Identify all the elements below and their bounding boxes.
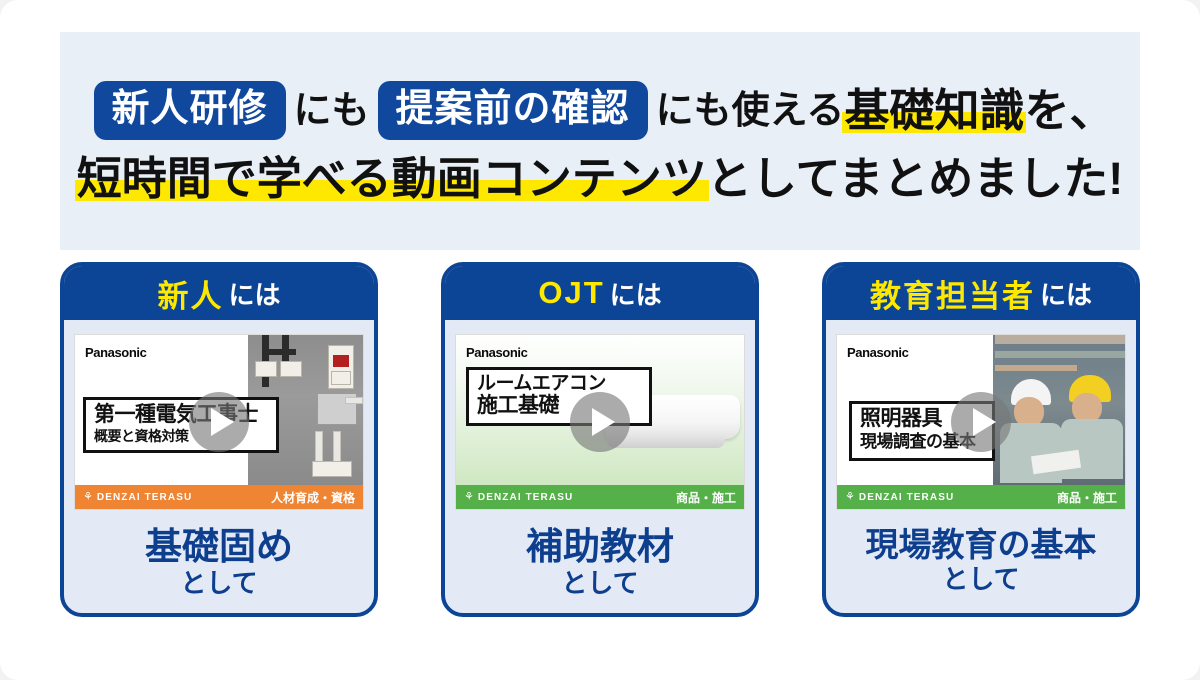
badge-pre-proposal-check: 提案前の確認	[378, 81, 648, 140]
card-caption-new-employee: 基礎固め として	[78, 528, 360, 597]
play-triangle	[592, 408, 615, 436]
card-row: 新人 には	[60, 262, 1140, 617]
denzai-terasu-brand: DENZAI TERASU	[478, 492, 573, 503]
thumbnail-footer-brand-group: ⚘ DENZAI TERASU	[845, 492, 954, 503]
thumbnail-category: 商品・施工	[676, 489, 736, 506]
card-caption-training-manager: 現場教育の基本 として	[840, 528, 1122, 593]
caption-main: 補助教材	[459, 528, 741, 567]
card-header-key: OJT	[538, 275, 604, 311]
play-triangle	[211, 408, 234, 436]
card-header-suffix: には	[1037, 275, 1092, 312]
promo-canvas: 新人研修 にも 提案前の確認 にも使える 基礎知識 を、 短時間で学べる動画コン…	[0, 0, 1200, 680]
card-header-key: 教育担当者	[870, 271, 1035, 316]
video-thumbnail-electrician[interactable]: Panasonic 第一種電気工事士 概要と資格対策 ⚘ DENZAI TERA…	[74, 334, 364, 510]
caption-main: 基礎固め	[78, 528, 360, 567]
card-ojt[interactable]: OJT には Panasonic ルームエアコン 施工基	[441, 262, 759, 617]
video-thumbnail-room-aircon[interactable]: Panasonic ルームエアコン 施工基礎 ⚘ DENZAI TERASU 商…	[455, 334, 745, 510]
play-icon[interactable]	[951, 392, 1011, 452]
denzai-terasu-mark-icon: ⚘	[464, 492, 474, 503]
headline-tail-2: としてまとめました!	[707, 156, 1123, 201]
denzai-terasu-brand: DENZAI TERASU	[97, 492, 192, 503]
headline-tail-1: を、	[1024, 88, 1114, 133]
thumbnail-footer: ⚘ DENZAI TERASU 人材育成・資格	[75, 485, 363, 509]
panasonic-logo: Panasonic	[85, 345, 146, 360]
headline-highlight-basics: 基礎知識	[844, 88, 1024, 133]
card-caption-ojt: 補助教材 として	[459, 528, 741, 597]
play-icon[interactable]	[189, 392, 249, 452]
card-header-key: 新人	[157, 271, 223, 316]
thumbnail-title-main: ルームエアコン	[477, 374, 641, 394]
card-header-new-employee: 新人 には	[64, 266, 374, 320]
play-triangle	[973, 408, 996, 436]
headline-connector-2: にも使える	[656, 92, 845, 130]
panasonic-logo: Panasonic	[847, 345, 908, 360]
card-training-manager[interactable]: 教育担当者 には	[822, 262, 1140, 617]
denzai-terasu-brand: DENZAI TERASU	[859, 492, 954, 503]
card-header-ojt: OJT には	[445, 266, 755, 320]
denzai-terasu-mark-icon: ⚘	[845, 492, 855, 503]
card-body-ojt: Panasonic ルームエアコン 施工基礎 ⚘ DENZAI TERASU 商…	[445, 320, 755, 613]
field-workers-photo	[993, 335, 1125, 487]
thumbnail-category: 商品・施工	[1057, 489, 1117, 506]
play-icon[interactable]	[570, 392, 630, 452]
thumbnail-title-plate: 第一種電気工事士 概要と資格対策	[83, 397, 279, 453]
badge-new-employee-training: 新人研修	[94, 81, 286, 140]
thumbnail-footer-brand-group: ⚘ DENZAI TERASU	[464, 492, 573, 503]
thumbnail-footer-brand-group: ⚘ DENZAI TERASU	[83, 492, 192, 503]
thumbnail-category: 人材育成・資格	[271, 489, 355, 506]
caption-sub: として	[840, 565, 1122, 594]
denzai-terasu-mark-icon: ⚘	[83, 492, 93, 503]
card-header-training-manager: 教育担当者 には	[826, 266, 1136, 320]
headline-highlight-video: 短時間で学べる動画コンテンツ	[77, 156, 707, 201]
headline-line-2: 短時間で学べる動画コンテンツ としてまとめました!	[77, 156, 1123, 201]
headline-connector-1: にも	[294, 92, 370, 130]
video-thumbnail-lighting[interactable]: Panasonic 照明器具 現場調査の基本 ⚘ DENZAI TERASU 商…	[836, 334, 1126, 510]
card-body-training-manager: Panasonic 照明器具 現場調査の基本 ⚘ DENZAI TERASU 商…	[826, 320, 1136, 609]
caption-sub: として	[78, 569, 360, 598]
thumbnail-footer: ⚘ DENZAI TERASU 商品・施工	[837, 485, 1125, 509]
thumbnail-footer: ⚘ DENZAI TERASU 商品・施工	[456, 485, 744, 509]
panasonic-logo: Panasonic	[466, 345, 527, 360]
card-new-employee[interactable]: 新人 には	[60, 262, 378, 617]
caption-main: 現場教育の基本	[840, 528, 1122, 563]
headline-banner: 新人研修 にも 提案前の確認 にも使える 基礎知識 を、 短時間で学べる動画コン…	[60, 32, 1140, 250]
headline-line-1: 新人研修 にも 提案前の確認 にも使える 基礎知識 を、	[86, 81, 1115, 140]
card-body-new-employee: Panasonic 第一種電気工事士 概要と資格対策 ⚘ DENZAI TERA…	[64, 320, 374, 613]
card-header-suffix: には	[225, 275, 280, 312]
caption-sub: として	[459, 569, 741, 598]
card-header-suffix: には	[607, 275, 662, 312]
